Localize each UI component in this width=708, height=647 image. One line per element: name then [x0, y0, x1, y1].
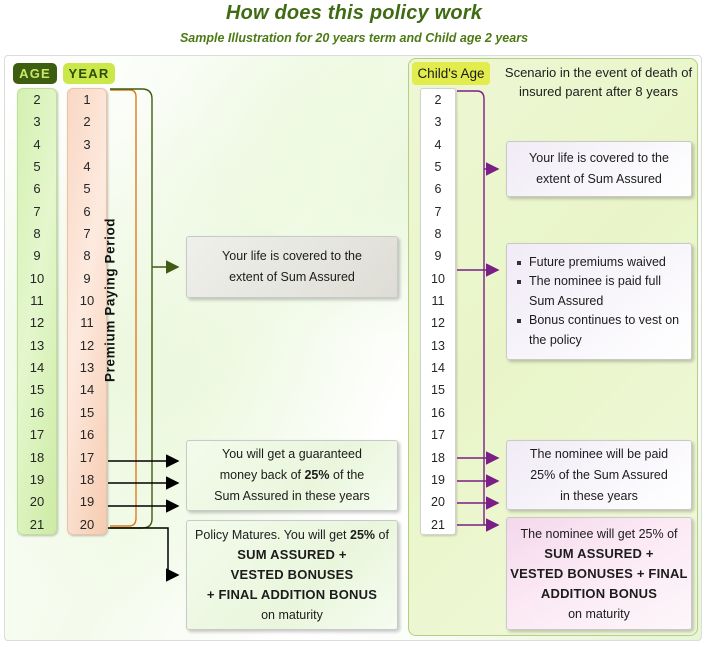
nominee-get-line-2: SUM ASSURED +: [544, 544, 653, 564]
list-item: 15: [18, 379, 56, 401]
death-benefit-list: Future premiums waivedThe nominee is pai…: [507, 253, 691, 351]
list-item: 16: [421, 402, 455, 424]
list-item: 9: [421, 245, 455, 267]
list-item: 19: [421, 469, 455, 491]
list-item: 8: [421, 223, 455, 245]
list-item: 4: [421, 134, 455, 156]
list-item: 8: [18, 223, 56, 245]
list-item: 12: [18, 312, 56, 334]
list-item: 19: [18, 469, 56, 491]
list-item: 7: [421, 201, 455, 223]
list-item: 4: [68, 156, 106, 178]
list-item: 9: [18, 245, 56, 267]
age-column: 23456789101112131415161718192021: [17, 88, 57, 535]
page-subtitle: Sample Illustration for 20 years term an…: [0, 31, 708, 45]
age-badge: AGE: [13, 63, 57, 84]
list-item: 18: [421, 447, 455, 469]
money-back-percent: 25%: [304, 468, 329, 482]
list-item: 3: [68, 134, 106, 156]
list-item: 11: [18, 290, 56, 312]
money-back-post: of the: [330, 468, 365, 482]
money-back-box: You will get a guaranteed money back of …: [186, 440, 398, 511]
money-back-line-1: You will get a guaranteed: [222, 444, 362, 465]
list-item: 18: [18, 447, 56, 469]
list-item: 14: [421, 357, 455, 379]
money-back-line-2: money back of 25% of the: [220, 465, 365, 486]
matures-line-3: VESTED BONUSES: [231, 565, 354, 585]
list-item: 2: [421, 89, 455, 111]
list-item: 12: [421, 312, 455, 334]
list-item: 17: [421, 424, 455, 446]
nominee-paid-line-3: in these years: [560, 486, 638, 507]
list-item: 6: [18, 178, 56, 200]
policy-matures-box: Policy Matures. You will get 25% of SUM …: [186, 520, 398, 630]
list-item: The nominee is paid full Sum Assured: [529, 272, 683, 311]
year-badge: YEAR: [63, 63, 115, 84]
list-item: 5: [421, 156, 455, 178]
list-item: 21: [18, 514, 56, 536]
list-item: 11: [421, 290, 455, 312]
list-item: 13: [421, 335, 455, 357]
left-cover-line-2: extent of Sum Assured: [229, 267, 355, 288]
list-item: 6: [421, 178, 455, 200]
list-item: Bonus continues to vest on the policy: [529, 311, 683, 350]
nominee-paid-line-1: The nominee will be paid: [530, 444, 668, 465]
right-cover-line-1: Your life is covered to the: [529, 148, 669, 169]
list-item: 5: [18, 156, 56, 178]
scenario-line-1: Scenario in the event of death of: [496, 63, 701, 82]
list-item: 16: [68, 424, 106, 446]
list-item: 13: [18, 335, 56, 357]
list-item: 14: [18, 357, 56, 379]
list-item: 15: [421, 379, 455, 401]
policy-infographic: How does this policy work Sample Illustr…: [0, 0, 708, 647]
list-item: 1: [68, 89, 106, 111]
child-age-list: 23456789101112131415161718192021: [421, 89, 455, 536]
list-item: 20: [68, 514, 106, 536]
matures-line-1: Policy Matures. You will get 25% of: [195, 525, 389, 545]
right-cover-box: Your life is covered to the extent of Su…: [506, 141, 692, 197]
matures-percent: 25%: [350, 528, 375, 542]
matures-pre: Policy Matures. You will get: [195, 528, 350, 542]
scenario-line-2: insured parent after 8 years: [496, 82, 701, 101]
right-cover-line-2: extent of Sum Assured: [536, 169, 662, 190]
list-item: 10: [421, 268, 455, 290]
nominee-get-line-3: VESTED BONUSES + FINAL: [510, 564, 687, 584]
list-item: 21: [421, 514, 455, 536]
nominee-get-line-5: on maturity: [568, 604, 630, 624]
list-item: 17: [68, 447, 106, 469]
nominee-paid-line-2: 25% of the Sum Assured: [530, 465, 668, 486]
child-age-column: 23456789101112131415161718192021: [420, 88, 456, 535]
list-item: 16: [18, 402, 56, 424]
death-benefit-bullets-box: Future premiums waivedThe nominee is pai…: [506, 243, 692, 360]
list-item: 20: [18, 491, 56, 513]
matures-line-5: on maturity: [261, 605, 323, 625]
matures-line-4: + FINAL ADDITION BONUS: [207, 585, 377, 605]
list-item: 10: [18, 268, 56, 290]
child-age-badge: Child's Age: [412, 62, 490, 85]
list-item: 4: [18, 134, 56, 156]
nominee-maturity-box: The nominee will get 25% of SUM ASSURED …: [506, 517, 692, 630]
list-item: 19: [68, 491, 106, 513]
page-title: How does this policy work: [0, 2, 708, 25]
age-list: 23456789101112131415161718192021: [18, 89, 56, 536]
list-item: 17: [18, 424, 56, 446]
nominee-get-line-1: The nominee will get 25% of: [520, 524, 677, 544]
scenario-heading: Scenario in the event of death of insure…: [496, 63, 701, 101]
matures-post: of: [375, 528, 389, 542]
left-cover-box: Your life is covered to the extent of Su…: [186, 236, 398, 298]
list-item: 7: [18, 201, 56, 223]
list-item: 20: [421, 491, 455, 513]
money-back-line-3: Sum Assured in these years: [214, 486, 370, 507]
list-item: 2: [68, 111, 106, 133]
matures-line-2: SUM ASSURED +: [237, 545, 346, 565]
list-item: 18: [68, 469, 106, 491]
list-item: 3: [18, 111, 56, 133]
nominee-get-line-4: ADDITION BONUS: [541, 584, 657, 604]
left-cover-line-1: Your life is covered to the: [222, 246, 362, 267]
nominee-paid-box: The nominee will be paid 25% of the Sum …: [506, 440, 692, 510]
money-back-pre: money back of: [220, 468, 305, 482]
list-item: 3: [421, 111, 455, 133]
premium-paying-period-label: Premium Paying Period: [99, 180, 121, 420]
list-item: Future premiums waived: [529, 253, 683, 273]
list-item: 2: [18, 89, 56, 111]
